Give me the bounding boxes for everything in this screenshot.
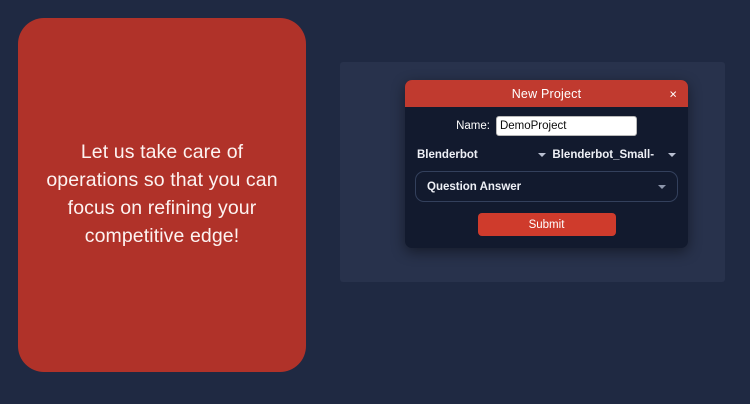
task-type-select[interactable]: Question Answer xyxy=(415,171,678,202)
name-label: Name: xyxy=(456,120,490,132)
chevron-down-icon xyxy=(538,153,546,157)
dialog-title: New Project xyxy=(512,87,582,101)
model-selector-row: Blenderbot Blenderbot_Small- xyxy=(415,149,678,161)
dialog-body: Name: Blenderbot Blenderbot_Small- Quest… xyxy=(405,107,688,248)
bot-family-select[interactable]: Blenderbot xyxy=(417,149,546,161)
submit-button[interactable]: Submit xyxy=(478,213,616,236)
chevron-down-icon xyxy=(658,185,666,189)
task-type-select-label: Question Answer xyxy=(427,181,652,193)
dialog-titlebar: New Project × xyxy=(405,80,688,107)
close-icon[interactable]: × xyxy=(666,85,680,102)
submit-row: Submit xyxy=(415,213,678,236)
bot-model-select-label: Blenderbot_Small- xyxy=(552,149,662,161)
chevron-down-icon xyxy=(668,153,676,157)
name-row: Name: xyxy=(415,116,678,136)
bot-model-select[interactable]: Blenderbot_Small- xyxy=(552,149,676,161)
project-name-input[interactable] xyxy=(496,116,637,136)
bot-family-select-label: Blenderbot xyxy=(417,149,532,161)
new-project-dialog: New Project × Name: Blenderbot Blenderbo… xyxy=(405,80,688,248)
promo-text: Let us take care of operations so that y… xyxy=(46,139,277,251)
promo-card: Let us take care of operations so that y… xyxy=(18,18,306,372)
